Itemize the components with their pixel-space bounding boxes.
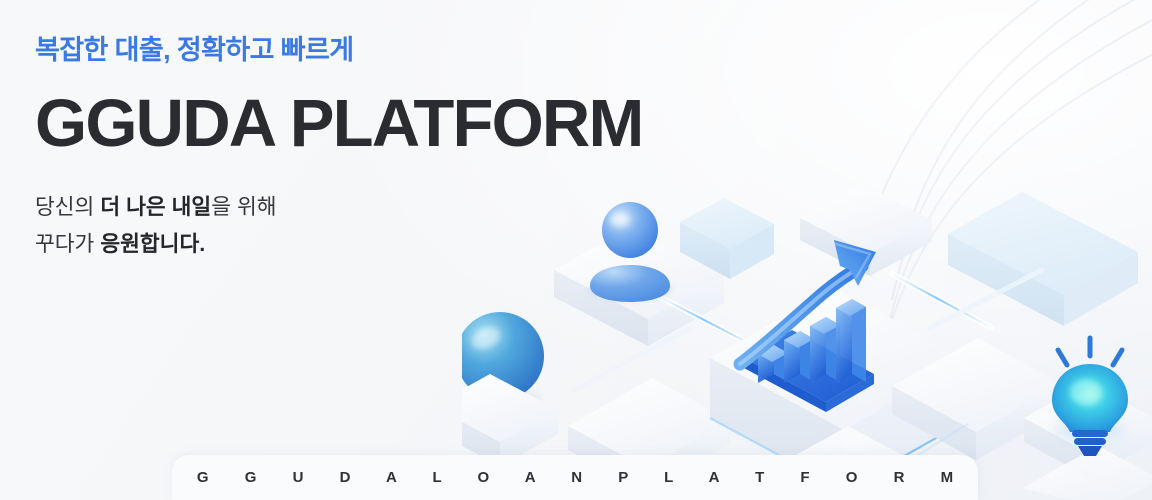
bottom-label-bar: G G U D A L O A N P L A T F O R M (172, 455, 978, 500)
chart-bar-3 (810, 317, 840, 383)
subtitle-text-1a: 당신의 (35, 195, 100, 219)
bulb-rays-icon (1058, 338, 1122, 365)
hero-copy: 복잡한 대출, 정확하고 빠르게 GGUDA PLATFORM 당신의 더 나은… (35, 34, 643, 263)
hero-subtitle-line-2: 꾸다가 응원합니다. (35, 226, 643, 263)
page-title: GGUDA PLATFORM (35, 90, 643, 157)
chart-bar-4 (836, 299, 866, 383)
subtitle-text-1b: 을 위해 (211, 195, 276, 219)
hero-subtitle-line-1: 당신의 더 나은 내일을 위해 (35, 189, 643, 226)
subtitle-emphasis-1: 더 나은 내일 (100, 195, 211, 219)
hero-banner: 복잡한 대출, 정확하고 빠르게 GGUDA PLATFORM 당신의 더 나은… (0, 0, 1152, 500)
bottom-bar-text: G G U D A L O A N P L A T F O R M (181, 469, 969, 486)
platform-tile-bottom-left (462, 374, 558, 466)
hero-eyebrow: 복잡한 대출, 정확하고 빠르게 (35, 34, 643, 68)
subtitle-emphasis-2: 응원합니다. (100, 232, 205, 256)
subtitle-text-2a: 꾸다가 (35, 232, 100, 256)
hero-subtitle: 당신의 더 나은 내일을 위해 꾸다가 응원합니다. (35, 189, 643, 263)
